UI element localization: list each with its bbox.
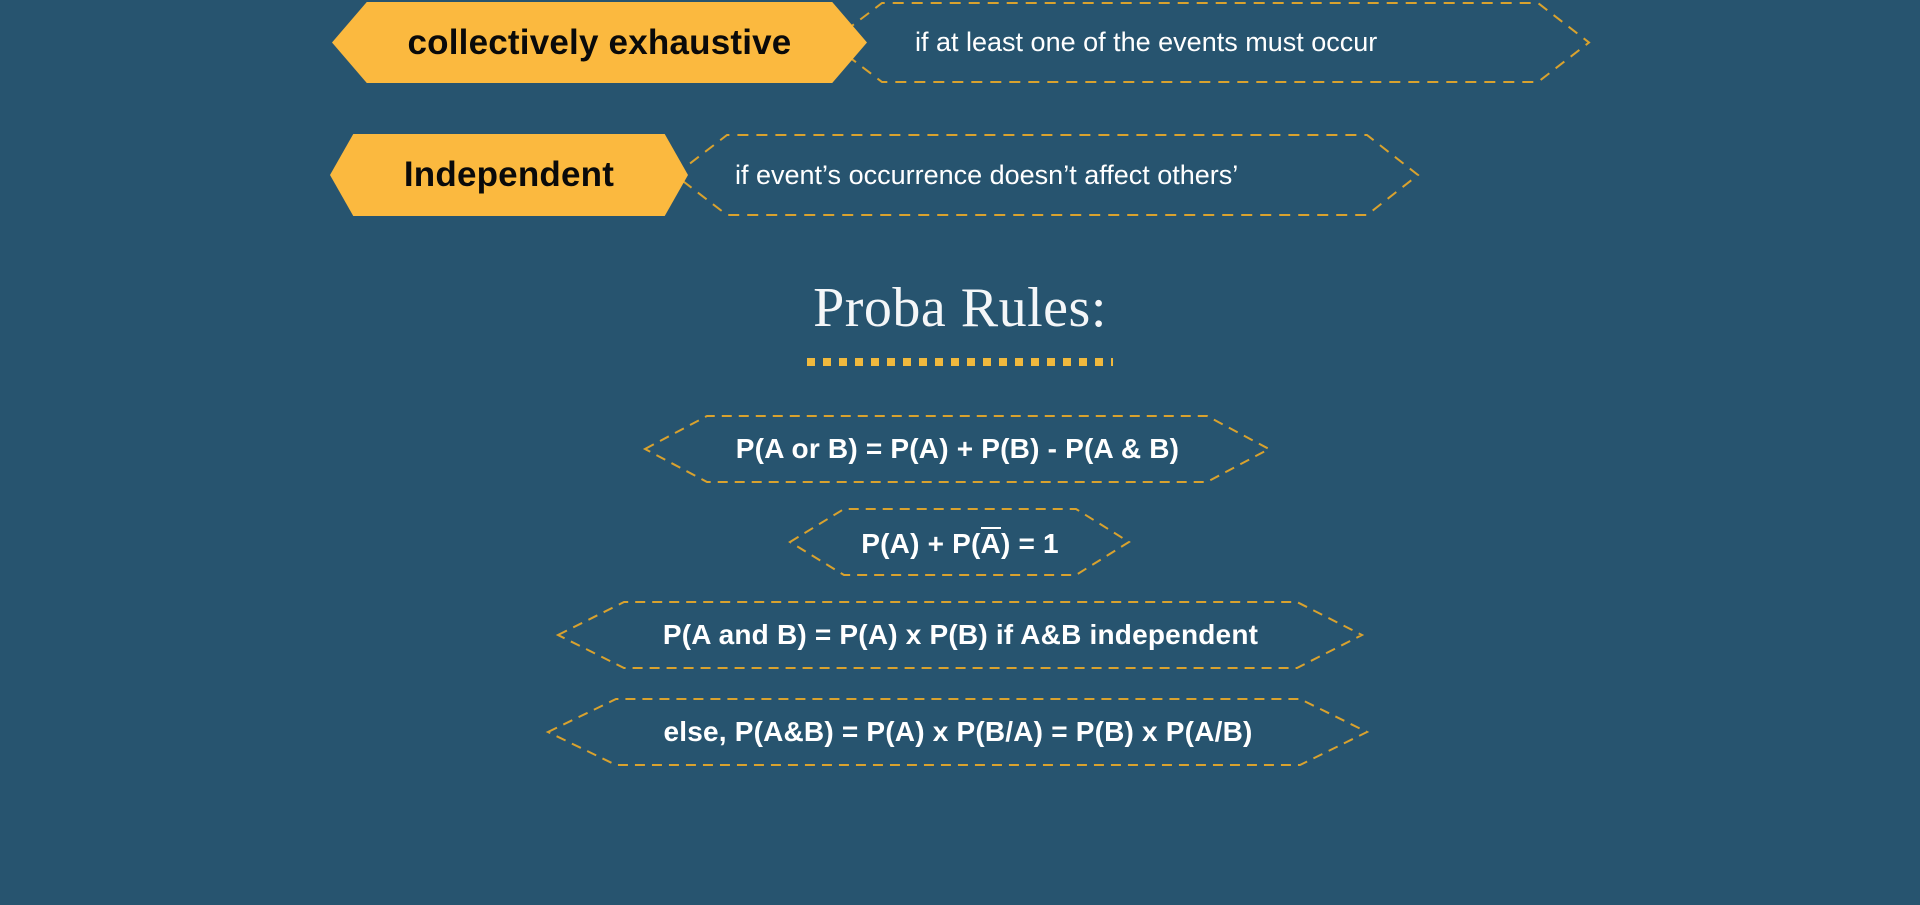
definition-description-text-1: if at least one of the events must occur — [915, 27, 1377, 58]
rule-text-1: P(A or B) = P(A) + P(B) - P(A & B) — [736, 433, 1179, 465]
rule-text-2-overline-term: A — [981, 527, 1001, 558]
slide-canvas: if at least one of the events must occur… — [0, 0, 1920, 905]
definition-term-hexagon-2: Independent — [330, 134, 688, 216]
rule-hexagon-3: P(A and B) = P(A) x P(B) if A&B independ… — [558, 601, 1363, 669]
definition-description-hexagon-1: if at least one of the events must occur — [830, 2, 1590, 83]
rule-text-2-prefix: P(A) + P( — [861, 528, 980, 559]
rule-hexagon-2: P(A) + P(A) = 1 — [790, 508, 1130, 576]
section-heading-block: Proba Rules: — [0, 280, 1920, 366]
definition-description-hexagon-2: if event’s occurrence doesn’t affect oth… — [675, 134, 1419, 216]
rule-text-2: P(A) + P(A) = 1 — [861, 525, 1059, 560]
rule-text-3: P(A and B) = P(A) x P(B) if A&B independ… — [663, 619, 1258, 651]
rule-hexagon-1: P(A or B) = P(A) + P(B) - P(A & B) — [645, 415, 1270, 483]
definition-term-text-2: Independent — [404, 155, 614, 195]
definition-term-hexagon-1: collectively exhaustive — [332, 2, 867, 83]
page-title: Proba Rules: — [0, 280, 1920, 336]
rule-hexagon-4: else, P(A&B) = P(A) x P(B/A) = P(B) x P(… — [548, 698, 1368, 766]
dotted-underline-decoration — [807, 358, 1113, 366]
rule-text-2-suffix: ) = 1 — [1001, 528, 1059, 559]
rule-text-4: else, P(A&B) = P(A) x P(B/A) = P(B) x P(… — [663, 716, 1252, 748]
definition-description-text-2: if event’s occurrence doesn’t affect oth… — [735, 160, 1238, 191]
definition-term-text-1: collectively exhaustive — [408, 23, 792, 63]
